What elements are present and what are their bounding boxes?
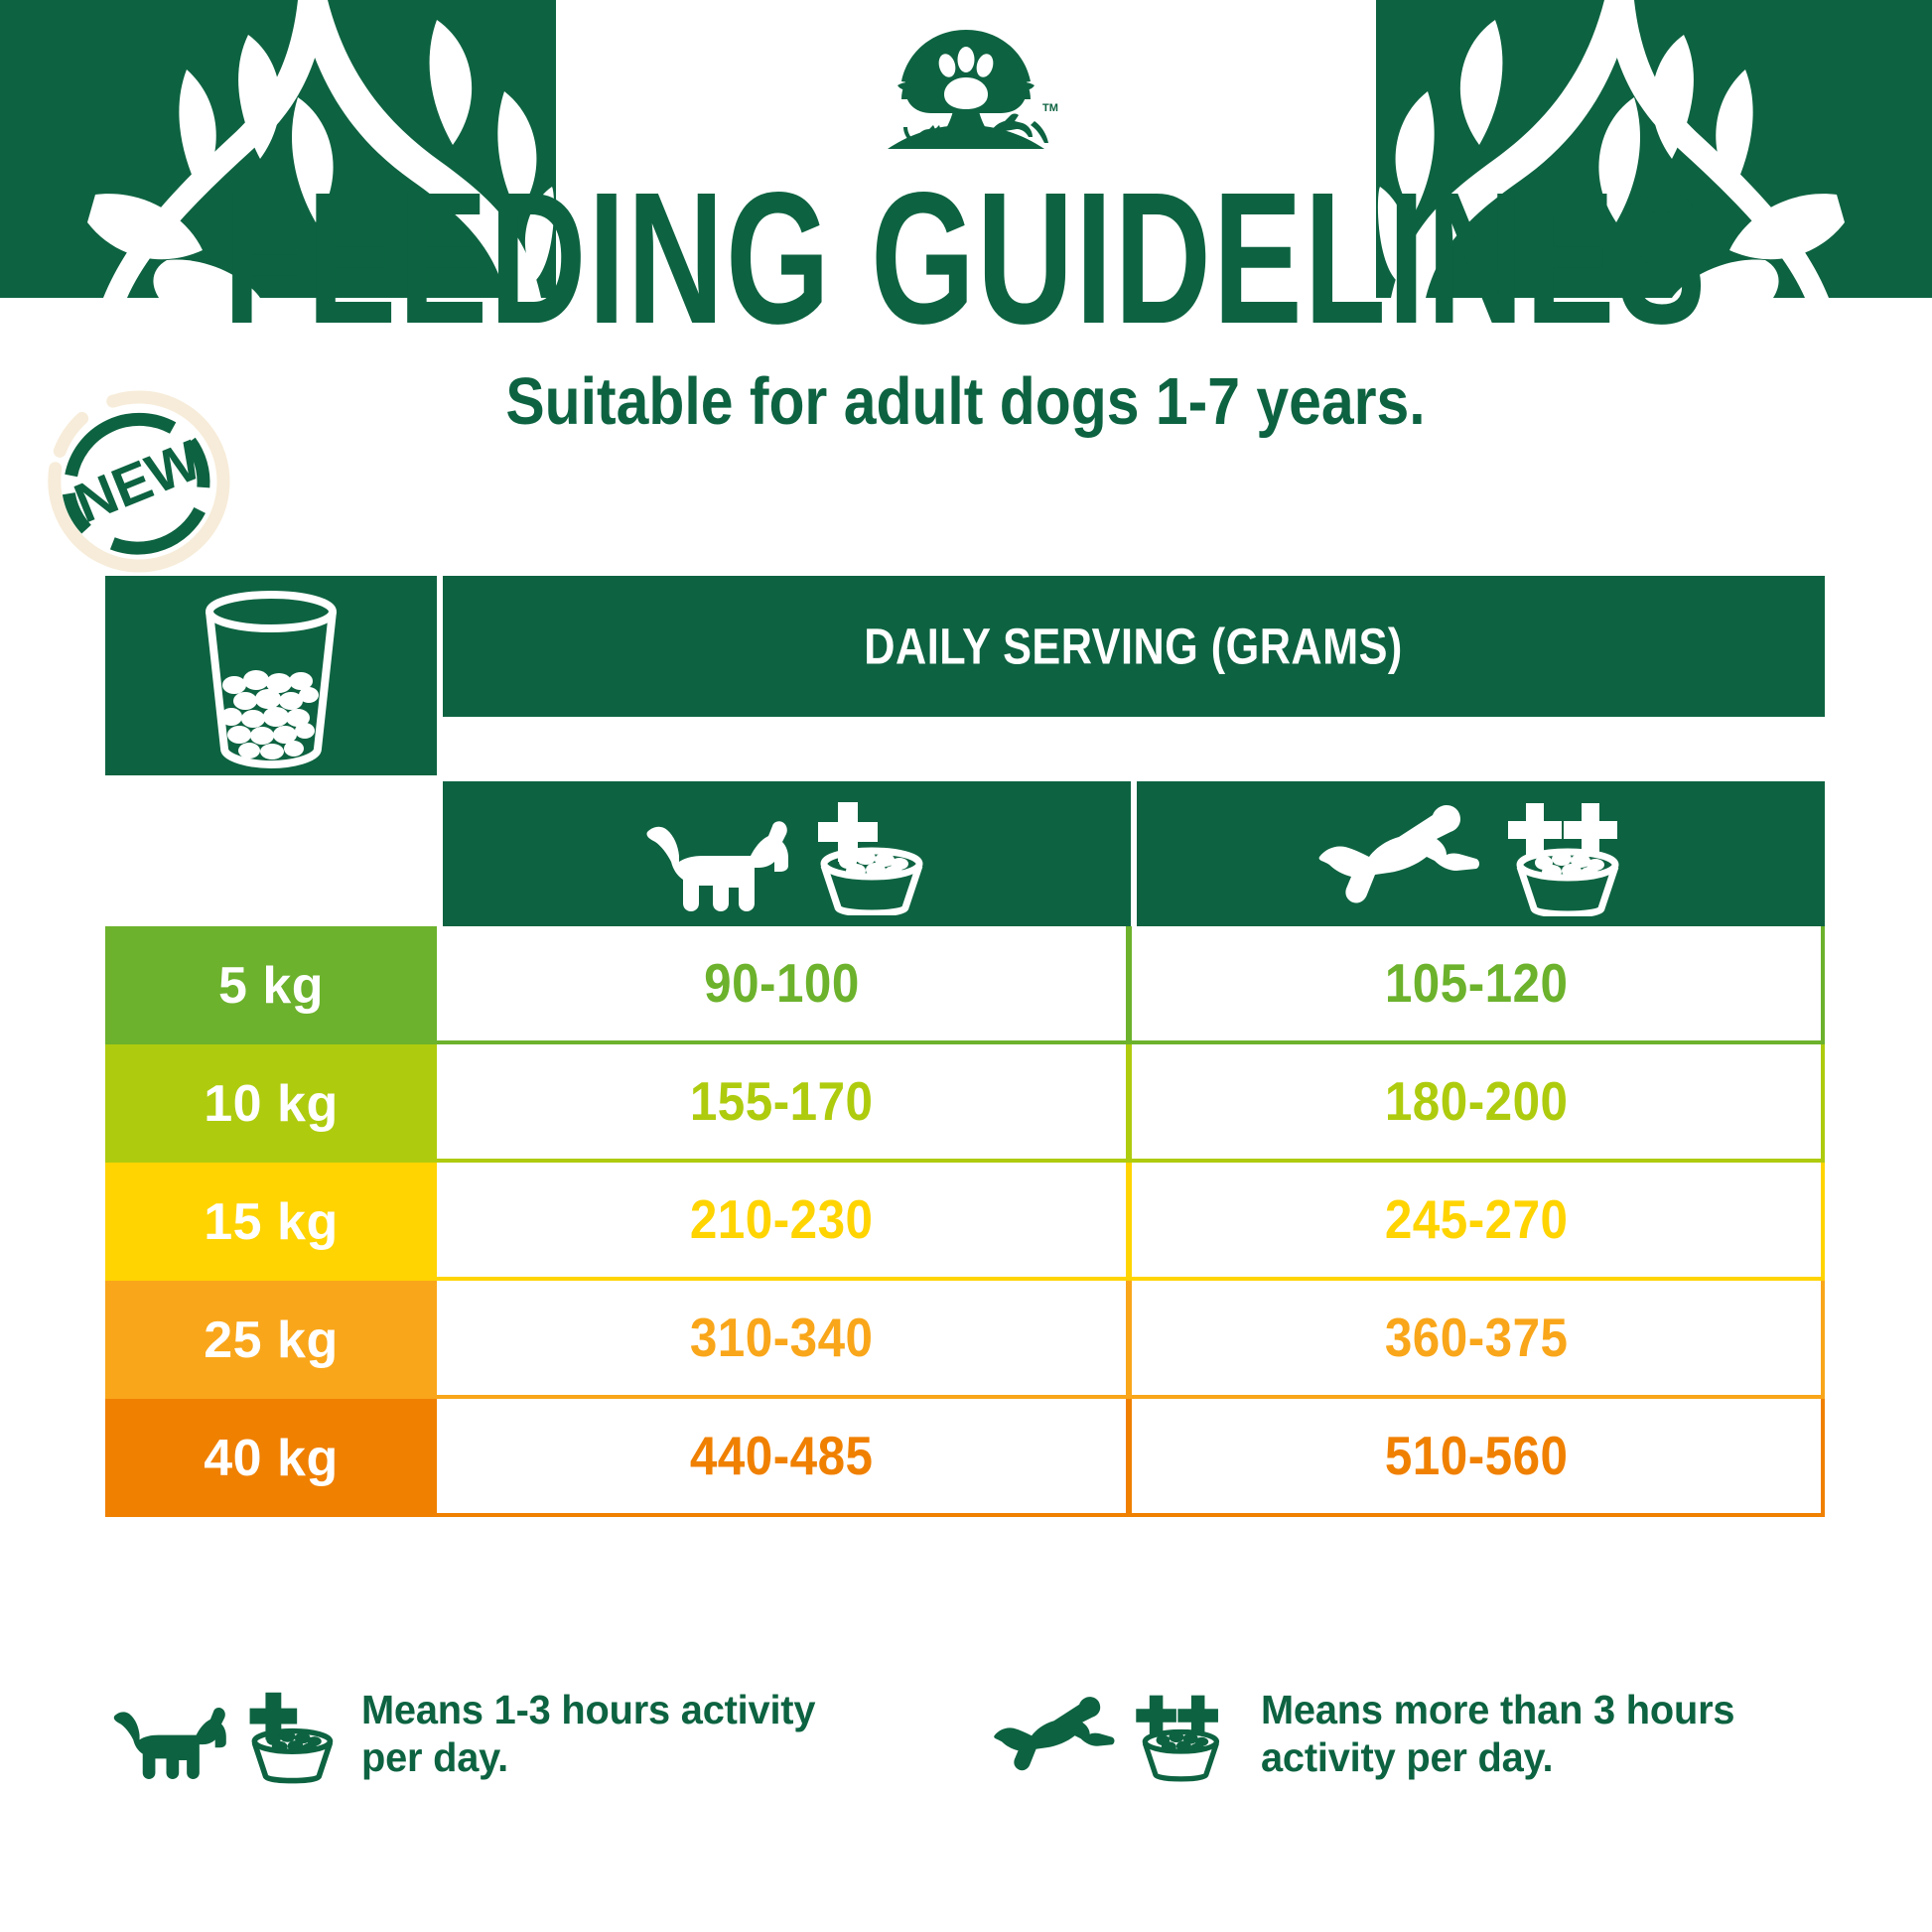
high-activity-value-cell: 180-200 xyxy=(1126,1044,1825,1163)
new-badge: NEW xyxy=(47,389,231,574)
table-row: 5 kg 90-100 105-120 xyxy=(105,926,1825,1044)
header-spacer xyxy=(105,781,437,926)
weight-label: 10 kg xyxy=(204,1074,338,1134)
weight-cell: 25 kg xyxy=(105,1281,437,1399)
high-activity-header-cell xyxy=(1137,781,1825,926)
high-activity-value-cell: 245-270 xyxy=(1126,1163,1825,1281)
table-row: 40 kg 440-485 510-560 xyxy=(105,1399,1825,1517)
low-activity-value: 310-340 xyxy=(690,1307,874,1370)
low-activity-header-cell xyxy=(443,781,1131,926)
table-row: 10 kg 155-170 180-200 xyxy=(105,1044,1825,1163)
high-activity-value: 510-560 xyxy=(1385,1425,1569,1488)
low-activity-value-cell: 155-170 xyxy=(437,1044,1126,1163)
weight-label: 5 kg xyxy=(218,956,324,1016)
weight-label: 25 kg xyxy=(204,1311,338,1370)
trademark-mark: TM xyxy=(1042,102,1058,114)
weight-cell: 10 kg xyxy=(105,1044,437,1163)
table-row: 25 kg 310-340 360-375 xyxy=(105,1281,1825,1399)
daily-serving-header-cell: DAILY SERVING (GRAMS) xyxy=(443,576,1825,717)
page-title-text: FEEDING GUIDELINES xyxy=(223,164,1708,351)
low-activity-value: 90-100 xyxy=(704,952,860,1016)
page-title: FEEDING GUIDELINES xyxy=(0,164,1932,313)
jumping-dog-plus-plus-bowl-icon xyxy=(993,1678,1239,1789)
standing-dog-plus-bowl-icon xyxy=(111,1678,340,1789)
high-activity-value: 180-200 xyxy=(1385,1070,1569,1134)
weight-cell: 5 kg xyxy=(105,926,437,1044)
low-activity-value: 440-485 xyxy=(690,1425,874,1488)
jumping-dog-plus-plus-bowl-icon xyxy=(1317,791,1645,916)
low-activity-value: 210-230 xyxy=(690,1188,874,1252)
legend-high-activity-text: Means more than 3 hours activity per day… xyxy=(1261,1686,1761,1782)
weight-cell: 15 kg xyxy=(105,1163,437,1281)
feeding-table: DAILY SERVING (GRAMS) xyxy=(105,576,1825,1517)
low-activity-value: 155-170 xyxy=(690,1070,874,1134)
daily-serving-header-label: DAILY SERVING (GRAMS) xyxy=(865,617,1403,675)
table-row: 15 kg 210-230 245-270 xyxy=(105,1163,1825,1281)
low-activity-value-cell: 310-340 xyxy=(437,1281,1126,1399)
high-activity-value: 105-120 xyxy=(1385,952,1569,1016)
high-activity-value-cell: 105-120 xyxy=(1126,926,1825,1044)
legend-low-activity: Means 1-3 hours activity per day. xyxy=(111,1678,878,1789)
low-activity-value-cell: 210-230 xyxy=(437,1163,1126,1281)
measuring-cup-with-kibble-icon xyxy=(192,582,350,770)
table-header-activity-icons xyxy=(105,781,1825,926)
standing-dog-plus-bowl-icon xyxy=(643,792,931,915)
measuring-cup-header-cell xyxy=(105,576,437,775)
low-activity-value-cell: 90-100 xyxy=(437,926,1126,1044)
high-activity-value: 360-375 xyxy=(1385,1307,1569,1370)
weight-label: 15 kg xyxy=(204,1192,338,1252)
table-header-top: DAILY SERVING (GRAMS) xyxy=(105,576,1825,775)
weight-cell: 40 kg xyxy=(105,1399,437,1517)
high-activity-value-cell: 360-375 xyxy=(1126,1281,1825,1399)
high-activity-value: 245-270 xyxy=(1385,1188,1569,1252)
page-subtitle-text: Suitable for adult dogs 1-7 years. xyxy=(506,369,1426,436)
legend-high-activity: Means more than 3 hours activity per day… xyxy=(993,1678,1777,1789)
low-activity-value-cell: 440-485 xyxy=(437,1399,1126,1517)
legend-low-activity-text: Means 1-3 hours activity per day. xyxy=(361,1686,862,1782)
page-subtitle: Suitable for adult dogs 1-7 years. xyxy=(0,369,1932,431)
weight-label: 40 kg xyxy=(204,1429,338,1488)
high-activity-value-cell: 510-560 xyxy=(1126,1399,1825,1517)
brand-logo: TM xyxy=(872,22,1060,151)
